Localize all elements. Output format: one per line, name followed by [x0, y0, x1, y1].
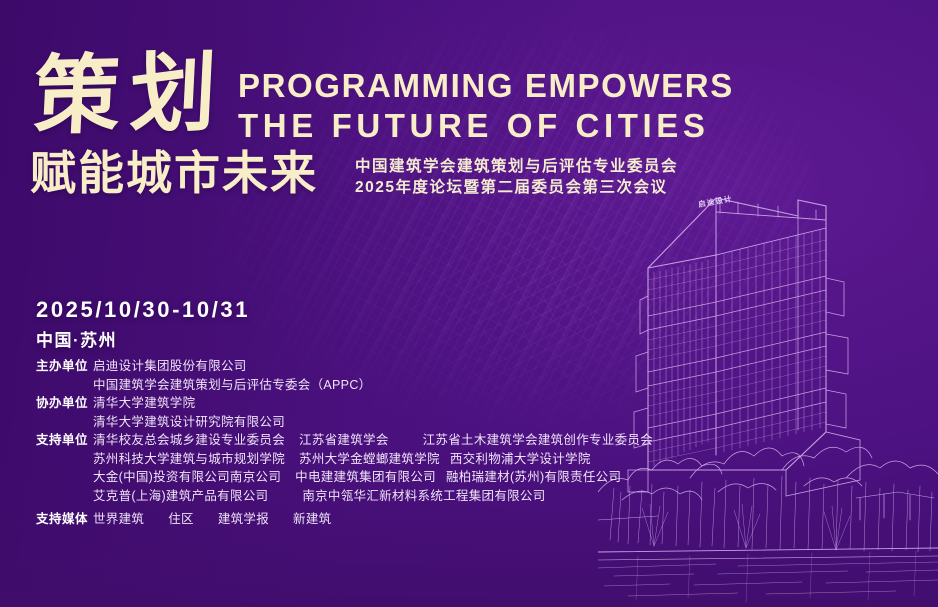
credit-row-organizer-cont: 中国建筑学会建筑策划与后评估专委会（APPC）: [36, 377, 716, 395]
credit-label-supporter: 支持单位: [36, 432, 93, 450]
event-location: 中国·苏州: [36, 326, 117, 351]
event-dates: 2025/10/30-10/31: [36, 297, 250, 323]
credit-row-coorganizer: 协办单位 清华大学建筑学院: [36, 395, 716, 413]
credit-row-supporter-cont: 苏州科技大学建筑与城市规划学院苏州大学金螳螂建筑学院西交利物浦大学设计学院: [36, 451, 716, 469]
supporter-item: 大金(中国)投资有限公司南京公司: [93, 470, 281, 484]
supporter-item: 苏州科技大学建筑与城市规划学院: [93, 452, 285, 466]
credit-value-supporter-line2: 苏州科技大学建筑与城市规划学院苏州大学金螳螂建筑学院西交利物浦大学设计学院: [93, 451, 716, 469]
credit-value-coorganizer-1: 清华大学建筑学院: [93, 395, 716, 413]
subtitle-line-2: 2025年度论坛暨第二届委员会第三次会议: [355, 177, 678, 198]
media-item: 住区: [168, 511, 194, 529]
supporter-item: 中电建建筑集团有限公司: [295, 470, 436, 484]
credit-value-organizer-1: 启迪设计集团股份有限公司: [93, 358, 716, 376]
subtitle-line-1: 中国建筑学会建筑策划与后评估专业委员会: [355, 156, 678, 177]
credits-block: 主办单位 启迪设计集团股份有限公司 中国建筑学会建筑策划与后评估专委会（APPC…: [36, 358, 716, 530]
credit-row-organizer: 主办单位 启迪设计集团股份有限公司: [36, 358, 716, 376]
credit-label-organizer: 主办单位: [36, 358, 93, 376]
credit-row-supporter-cont: 艾克普(上海)建筑产品有限公司南京中瓴华汇新材料系统工程集团有限公司: [36, 488, 716, 506]
supporter-item: 清华校友总会城乡建设专业委员会: [93, 433, 285, 447]
credit-value-supporter-line3: 大金(中国)投资有限公司南京公司中电建建筑集团有限公司融柏瑞建材(苏州)有限责任…: [93, 469, 716, 487]
credit-label-coorganizer: 协办单位: [36, 395, 93, 413]
supporter-item: 南京中瓴华汇新材料系统工程集团有限公司: [302, 489, 545, 503]
english-title: PROGRAMMING EMPOWERS THE FUTURE OF CITIE…: [238, 68, 734, 145]
english-title-line2: THE FUTURE OF CITIES: [238, 107, 734, 145]
credit-row-coorganizer-cont: 清华大学建筑设计研究院有限公司: [36, 414, 716, 432]
supporter-item: 苏州大学金螳螂建筑学院: [299, 452, 440, 466]
calligraphy-title: 策划: [32, 50, 228, 140]
english-title-line1: PROGRAMMING EMPOWERS: [238, 68, 734, 104]
supporter-item: 西交利物浦大学设计学院: [450, 452, 591, 466]
credit-label-media: 支持媒体: [36, 511, 93, 529]
media-item: 建筑学报: [218, 511, 269, 529]
credit-row-supporter-cont: 大金(中国)投资有限公司南京公司中电建建筑集团有限公司融柏瑞建材(苏州)有限责任…: [36, 469, 716, 487]
media-item: 新建筑: [293, 511, 331, 529]
credit-value-organizer-2: 中国建筑学会建筑策划与后评估专委会（APPC）: [93, 377, 716, 395]
chinese-headline: 赋能城市未来: [30, 148, 318, 198]
chinese-subtitle: 中国建筑学会建筑策划与后评估专业委员会 2025年度论坛暨第二届委员会第三次会议: [355, 156, 678, 198]
credit-value-media: 世界建筑住区建筑学报新建筑: [93, 511, 716, 529]
credit-row-supporter: 支持单位 清华校友总会城乡建设专业委员会江苏省建筑学会江苏省土木建筑学会建筑创作…: [36, 432, 716, 450]
credit-value-supporter-line4: 艾克普(上海)建筑产品有限公司南京中瓴华汇新材料系统工程集团有限公司: [93, 488, 716, 506]
supporter-item: 融柏瑞建材(苏州)有限责任公司: [446, 470, 621, 484]
credit-value-supporter-line1: 清华校友总会城乡建设专业委员会江苏省建筑学会江苏省土木建筑学会建筑创作专业委员会: [93, 432, 716, 450]
media-item: 世界建筑: [93, 511, 144, 529]
poster-canvas: 启迪设计 策划 PROGRAMMING EMPOWERS THE FUTURE …: [0, 0, 938, 607]
supporter-item: 江苏省土木建筑学会建筑创作专业委员会: [423, 433, 653, 447]
supporter-item: 江苏省建筑学会: [299, 433, 389, 447]
supporter-item: 艾克普(上海)建筑产品有限公司: [93, 489, 268, 503]
credit-row-media: 支持媒体 世界建筑住区建筑学报新建筑: [36, 511, 716, 529]
credit-value-coorganizer-2: 清华大学建筑设计研究院有限公司: [93, 414, 716, 432]
